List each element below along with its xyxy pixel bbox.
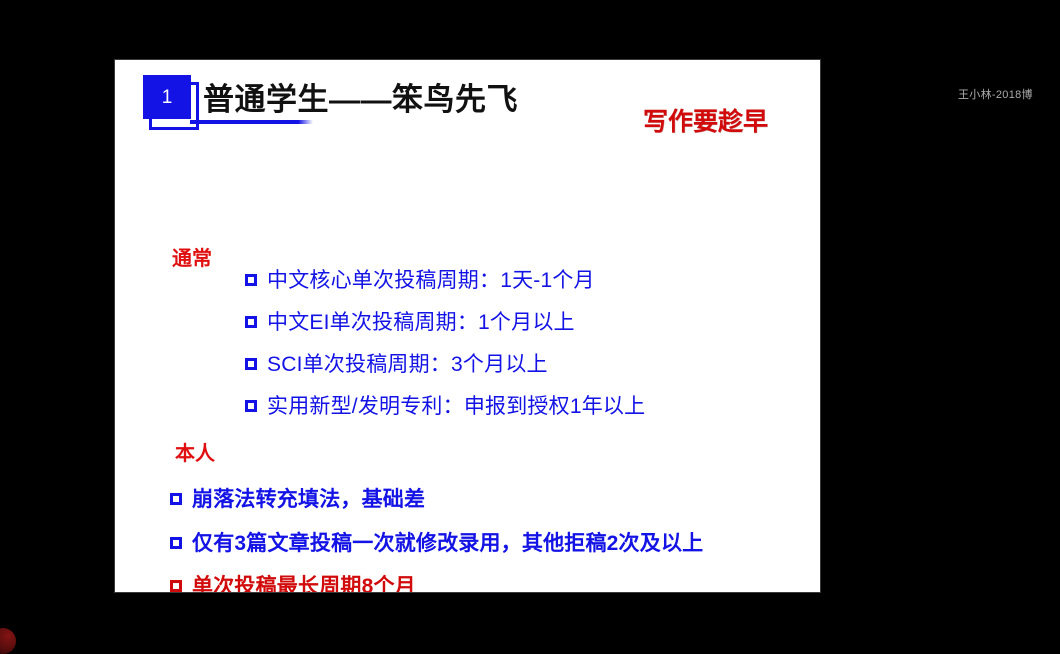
list-item-label: SCI单次投稿周期：3个月以上 bbox=[267, 348, 548, 378]
slide-title: 普通学生——笨鸟先飞 bbox=[203, 74, 518, 119]
list-item-label: 实用新型/发明专利：申报到授权1年以上 bbox=[267, 390, 645, 420]
list-item: 中文核心单次投稿周期：1天-1个月 bbox=[245, 264, 595, 294]
slide-number-badge: 1 bbox=[143, 75, 195, 125]
list-item-label: 中文核心单次投稿周期：1天-1个月 bbox=[267, 264, 595, 294]
square-bullet-icon bbox=[245, 400, 257, 412]
slide-header: 1 普通学生——笨鸟先飞 写作要趁早 bbox=[115, 60, 820, 138]
slide-number-text: 1 bbox=[162, 88, 173, 107]
group-label-self: 本人 bbox=[175, 437, 215, 466]
list-item: SCI单次投稿周期：3个月以上 bbox=[245, 348, 548, 378]
group-label-usual: 通常 bbox=[172, 242, 212, 271]
watermark-label: 王小林-2018博 bbox=[958, 86, 1033, 102]
list-item: 单次投稿最长周期8个月 bbox=[170, 570, 416, 592]
list-item-label: 中文EI单次投稿周期：1个月以上 bbox=[267, 306, 575, 336]
square-bullet-icon bbox=[245, 274, 257, 286]
list-item: 崩落法转充填法，基础差 bbox=[170, 483, 425, 513]
video-screen-backdrop: 王小林-2018博 1 普通学生——笨鸟先飞 写作要趁早 通常 中文核心单次投稿… bbox=[0, 0, 1060, 645]
list-item-label: 仅有3篇文章投稿一次就修改录用，其他拒稿2次及以上 bbox=[192, 527, 703, 557]
square-bullet-icon bbox=[245, 316, 257, 328]
list-item-label: 崩落法转充填法，基础差 bbox=[192, 483, 425, 513]
square-bullet-icon bbox=[245, 358, 257, 370]
list-item: 实用新型/发明专利：申报到授权1年以上 bbox=[245, 390, 645, 420]
list-item: 中文EI单次投稿周期：1个月以上 bbox=[245, 306, 575, 336]
square-bullet-icon bbox=[170, 580, 182, 592]
presentation-slide: 1 普通学生——笨鸟先飞 写作要趁早 通常 中文核心单次投稿周期：1天-1个月 … bbox=[115, 60, 820, 592]
slide-number-badge-fill: 1 bbox=[143, 75, 191, 119]
title-underline-rule bbox=[190, 120, 313, 124]
slide-kicker-text: 写作要趁早 bbox=[643, 102, 768, 138]
corner-decoration-icon bbox=[0, 628, 16, 654]
square-bullet-icon bbox=[170, 493, 182, 505]
list-item-label: 单次投稿最长周期8个月 bbox=[192, 570, 416, 592]
list-item: 仅有3篇文章投稿一次就修改录用，其他拒稿2次及以上 bbox=[170, 527, 703, 557]
square-bullet-icon bbox=[170, 537, 182, 549]
